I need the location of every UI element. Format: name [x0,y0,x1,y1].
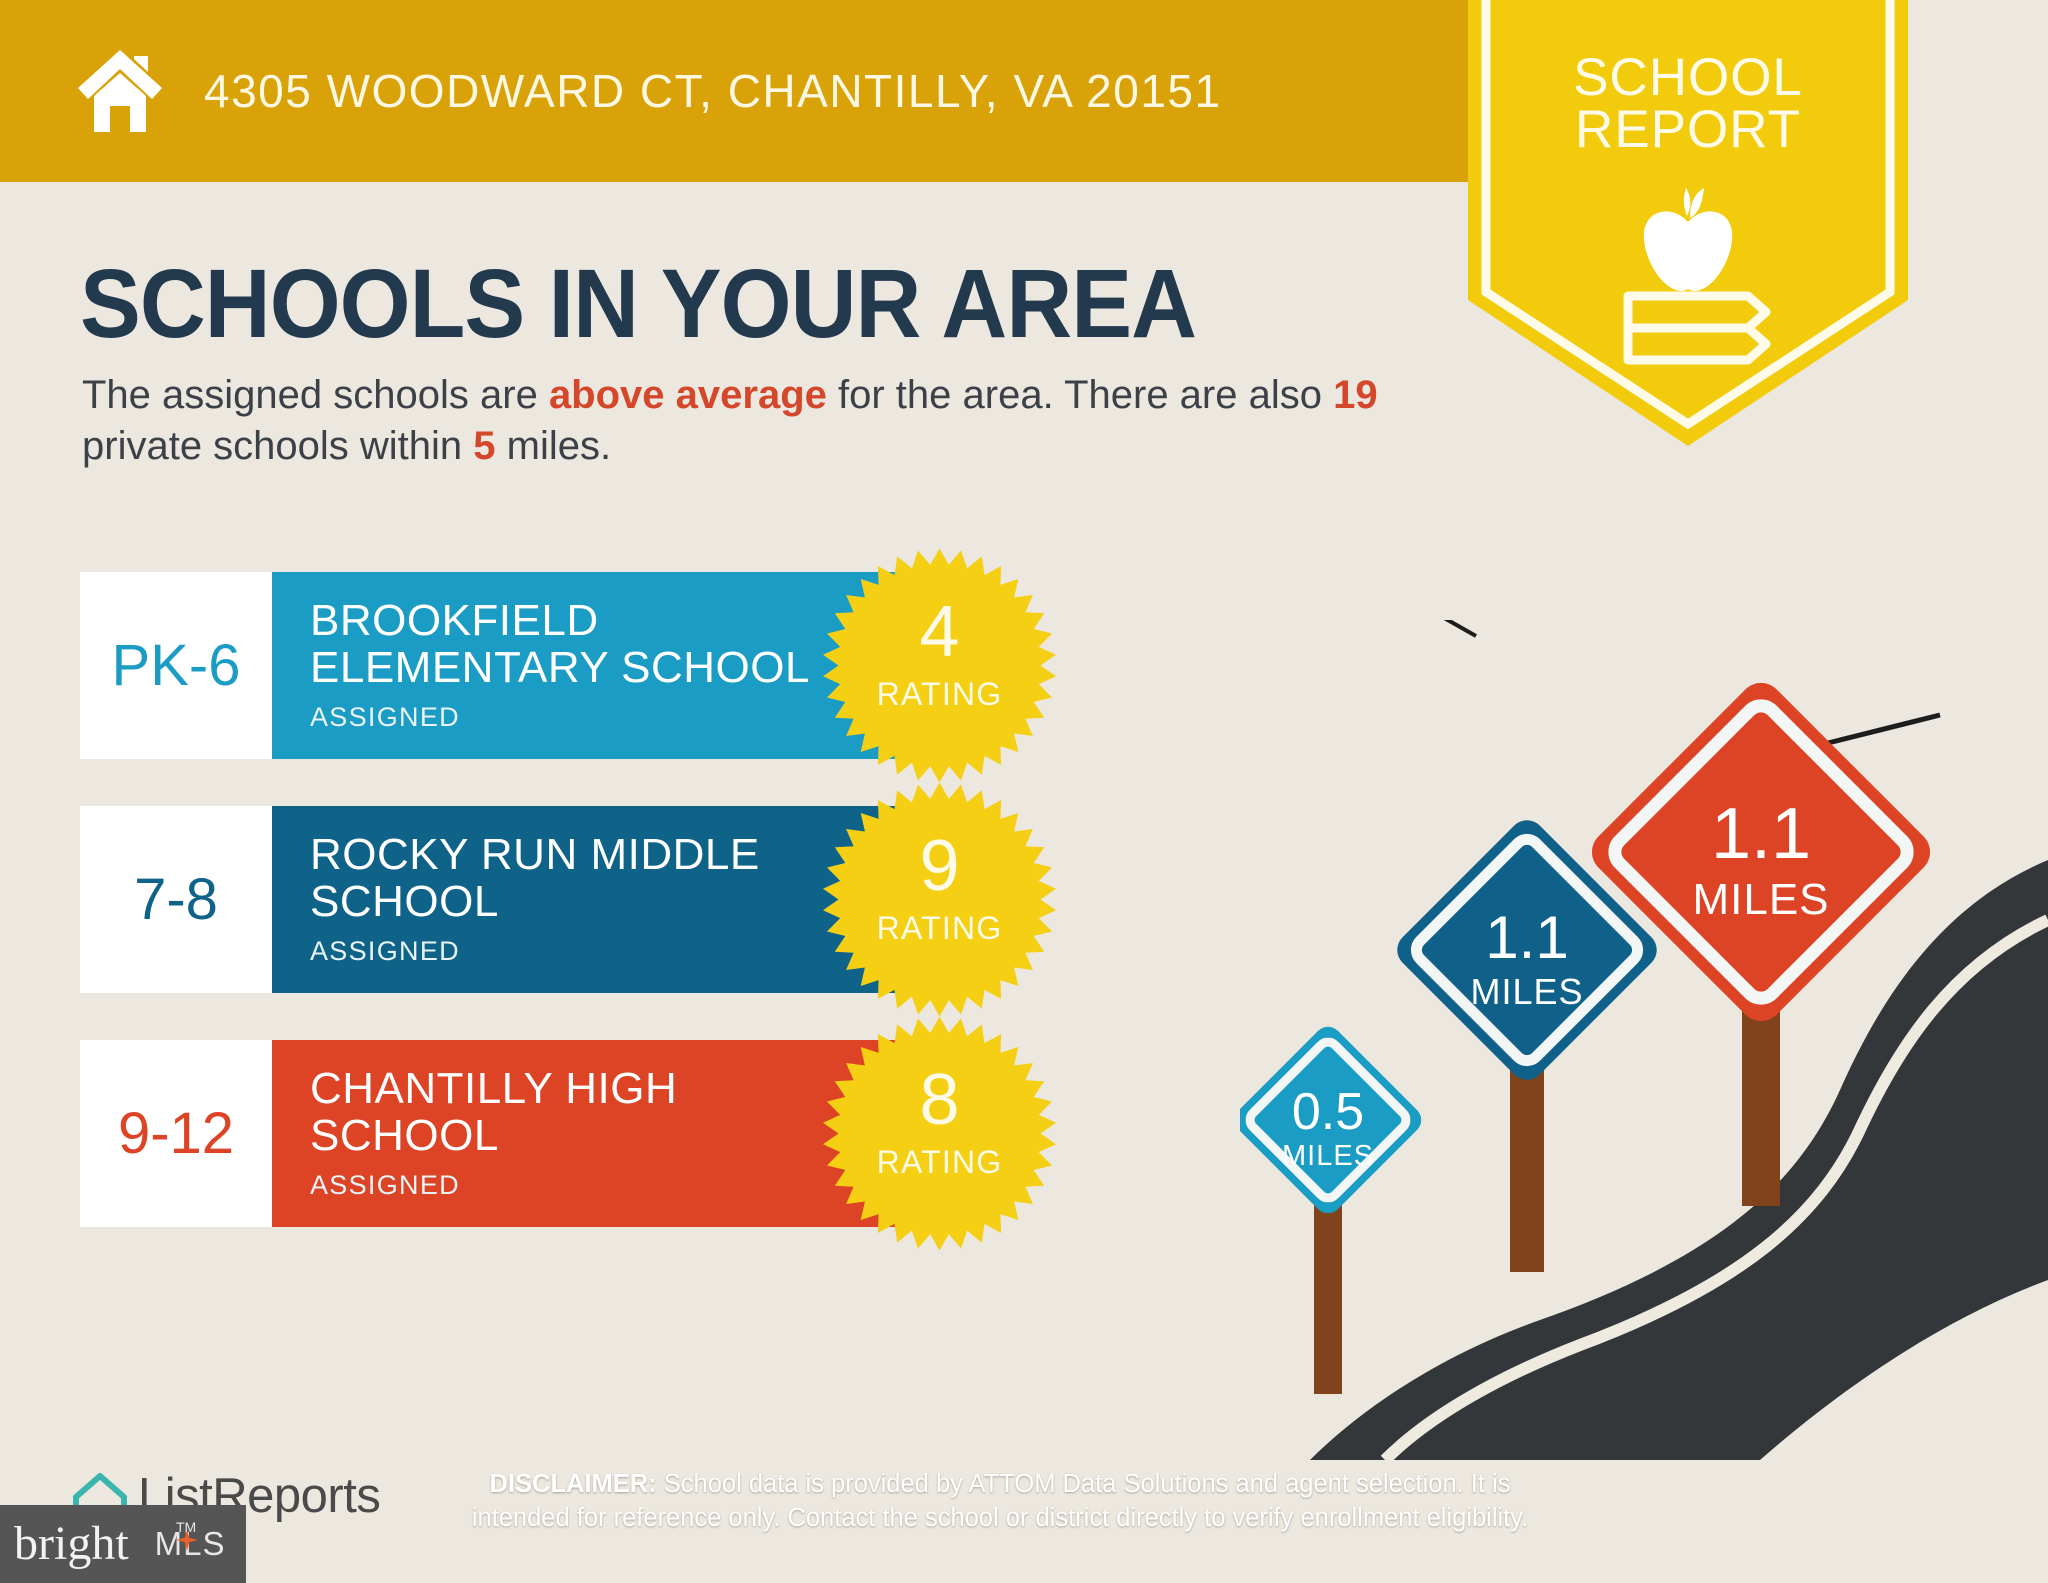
rating-badge: 8 RATING [822,1016,1057,1251]
header-bar: 4305 WOODWARD CT, CHANTILLY, VA 20151 [0,0,1468,182]
grade-box: 9-12 [80,1040,272,1227]
banner-title: SCHOOL REPORT [1468,52,1908,156]
road-scene [1240,620,2048,1460]
rating-value: 8 [822,1064,1057,1136]
subtitle-part-4: miles. [496,424,612,468]
grade-label: 9-12 [118,1100,234,1167]
trademark-symbol: TM [176,1519,196,1535]
property-address: 4305 WOODWARD CT, CHANTILLY, VA 20151 [204,64,1222,118]
school-report-banner: SCHOOL REPORT [1468,0,1908,446]
rating-label: RATING [822,1144,1057,1181]
bright-mls-watermark: bright TM MLS [0,1505,246,1583]
page-subtitle: The assigned schools are above average f… [82,370,1422,472]
school-row[interactable]: 9-12 CHANTILLY HIGH SCHOOL ASSIGNED 8 RA… [80,1040,1180,1227]
page-title: SCHOOLS IN YOUR AREA [80,248,1196,360]
grade-label: 7-8 [134,866,218,933]
sign-antenna [1820,715,1940,745]
rating-badge: 9 RATING [822,782,1057,1017]
rating-badge: 4 RATING [822,548,1057,783]
bright-wordmark: bright [14,1520,129,1568]
road-signs-illustration: 0.5 MILES 1.1 MILES 1.1 MILES [1240,620,2048,1460]
house-icon [74,48,166,134]
subtitle-part-1: The assigned schools are [82,373,549,417]
rating-value: 9 [822,830,1057,902]
grade-box: 7-8 [80,806,272,993]
disclaimer-label: DISCLAIMER: [490,1470,657,1498]
distance-sign-small [1240,1021,1427,1219]
school-row[interactable]: PK-6 BROOKFIELD ELEMENTARY SCHOOL ASSIGN… [80,572,1180,759]
school-list: PK-6 BROOKFIELD ELEMENTARY SCHOOL ASSIGN… [80,572,1180,1274]
school-row[interactable]: 7-8 ROCKY RUN MIDDLE SCHOOL ASSIGNED 9 R… [80,806,1180,993]
grade-box: PK-6 [80,572,272,759]
grade-label: PK-6 [112,632,241,699]
subtitle-highlight-3: 5 [473,424,495,468]
subtitle-part-3: private schools within [82,424,473,468]
subtitle-highlight-2: 19 [1333,373,1378,417]
rating-label: RATING [822,910,1057,947]
subtitle-part-2: for the area. There are also [827,373,1333,417]
banner-line-2: REPORT [1468,104,1908,156]
rating-value: 4 [822,596,1057,668]
infographic-page: 4305 WOODWARD CT, CHANTILLY, VA 20151 SC… [0,0,2048,1583]
disclaimer-text: DISCLAIMER: School data is provided by A… [440,1468,1560,1536]
banner-line-1: SCHOOL [1468,52,1908,104]
rating-label: RATING [822,676,1057,713]
school-name: CHANTILLY HIGH SCHOOL [310,1066,870,1159]
school-name: ROCKY RUN MIDDLE SCHOOL [310,832,870,925]
school-name: BROOKFIELD ELEMENTARY SCHOOL [310,598,870,691]
subtitle-highlight-1: above average [549,373,827,417]
